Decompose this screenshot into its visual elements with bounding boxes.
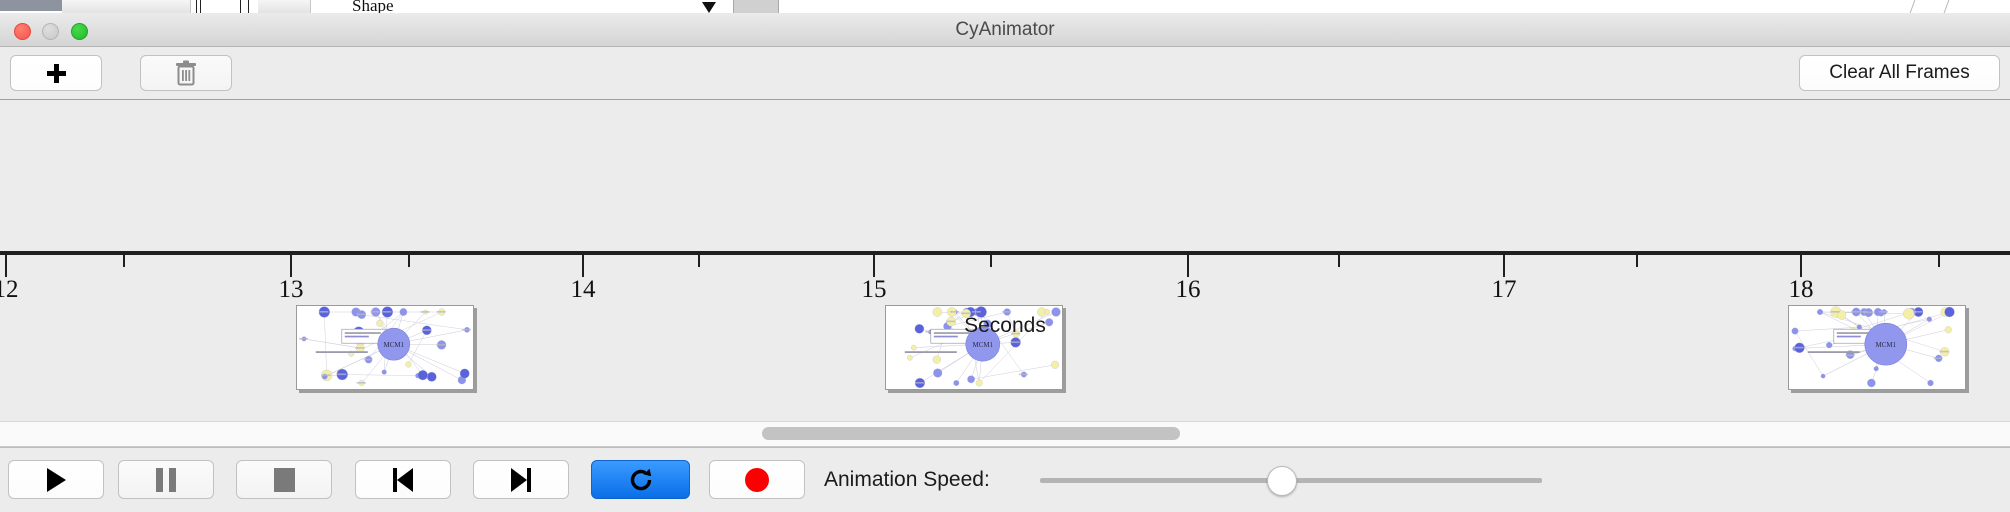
background-glyph-stroke	[240, 0, 241, 13]
background-tab	[62, 0, 141, 13]
axis-tick	[1800, 255, 1802, 277]
timeline-axis	[0, 251, 2010, 255]
animation-speed-label: Animation Speed:	[824, 468, 990, 492]
delete-frame-button[interactable]	[140, 55, 232, 91]
axis-tick	[408, 255, 410, 267]
svg-text:MCM1: MCM1	[383, 341, 404, 349]
background-glyph-stroke	[248, 0, 249, 13]
axis-tick	[873, 255, 875, 277]
axis-tick	[1938, 255, 1940, 267]
play-button[interactable]	[8, 460, 104, 499]
background-glyph-stroke	[1944, 0, 1950, 13]
background-glyph-wedge	[702, 2, 716, 13]
axis-tick	[290, 255, 292, 277]
axis-tick	[1338, 255, 1340, 267]
background-titlebar-block	[0, 0, 62, 11]
skip-to-end-icon	[511, 468, 531, 492]
scrollbar-thumb[interactable]	[762, 427, 1180, 440]
animation-speed-slider[interactable]	[1040, 478, 1542, 483]
stop-icon	[274, 468, 295, 492]
axis-tick	[123, 255, 125, 267]
playback-toolbar: Animation Speed:	[0, 447, 2010, 512]
loop-icon	[628, 467, 654, 493]
axis-caption: Seconds	[0, 314, 2010, 338]
axis-tick-label: 13	[279, 276, 304, 304]
background-tab	[258, 0, 311, 13]
play-icon	[47, 468, 66, 492]
timeline-scrollbar[interactable]	[0, 421, 2010, 447]
background-window-text: Shape	[352, 0, 394, 13]
background-glyph-stroke	[196, 0, 197, 13]
background-tab	[140, 0, 191, 13]
svg-text:MCM1: MCM1	[972, 341, 993, 349]
stop-button[interactable]	[236, 460, 332, 499]
last-frame-button[interactable]	[473, 460, 569, 499]
timeline-panel[interactable]: 12131415161718 MCM1MCM1MCM1 Seconds	[0, 100, 2010, 421]
skip-to-start-icon	[393, 468, 413, 492]
add-frame-button[interactable]	[10, 55, 102, 91]
axis-tick-label: 14	[571, 276, 596, 304]
axis-tick-label: 15	[862, 276, 887, 304]
cyanimator-window: CyAnimator Clear All Frames 121314151617…	[0, 13, 2010, 510]
first-frame-button[interactable]	[355, 460, 451, 499]
window-title: CyAnimator	[0, 19, 2010, 41]
axis-tick	[698, 255, 700, 267]
toolbar: Clear All Frames	[0, 47, 2010, 100]
axis-tick	[5, 255, 7, 277]
svg-text:MCM1: MCM1	[1875, 341, 1896, 349]
slider-thumb[interactable]	[1267, 466, 1297, 496]
axis-tick-label: 16	[1176, 276, 1201, 304]
clear-all-frames-button[interactable]: Clear All Frames	[1799, 55, 2000, 91]
background-button	[733, 0, 779, 13]
axis-tick-label: 18	[1789, 276, 1814, 304]
axis-tick	[1636, 255, 1638, 267]
record-button[interactable]	[709, 460, 805, 499]
record-icon	[745, 468, 769, 492]
plus-icon	[47, 64, 66, 83]
loop-toggle-button[interactable]	[591, 460, 690, 499]
clear-all-frames-label: Clear All Frames	[1829, 62, 1969, 84]
axis-tick-label: 12	[0, 276, 19, 304]
background-glyph-stroke	[200, 0, 201, 13]
pause-button[interactable]	[118, 460, 214, 499]
axis-tick	[1187, 255, 1189, 277]
trash-icon	[174, 60, 198, 86]
axis-tick-label: 17	[1492, 276, 1517, 304]
axis-tick	[990, 255, 992, 267]
title-bar: CyAnimator	[0, 13, 2010, 47]
axis-tick	[582, 255, 584, 277]
background-glyph-stroke	[1910, 0, 1916, 13]
pause-icon	[156, 468, 176, 492]
axis-tick	[1503, 255, 1505, 277]
background-window: Shape	[0, 0, 2010, 13]
